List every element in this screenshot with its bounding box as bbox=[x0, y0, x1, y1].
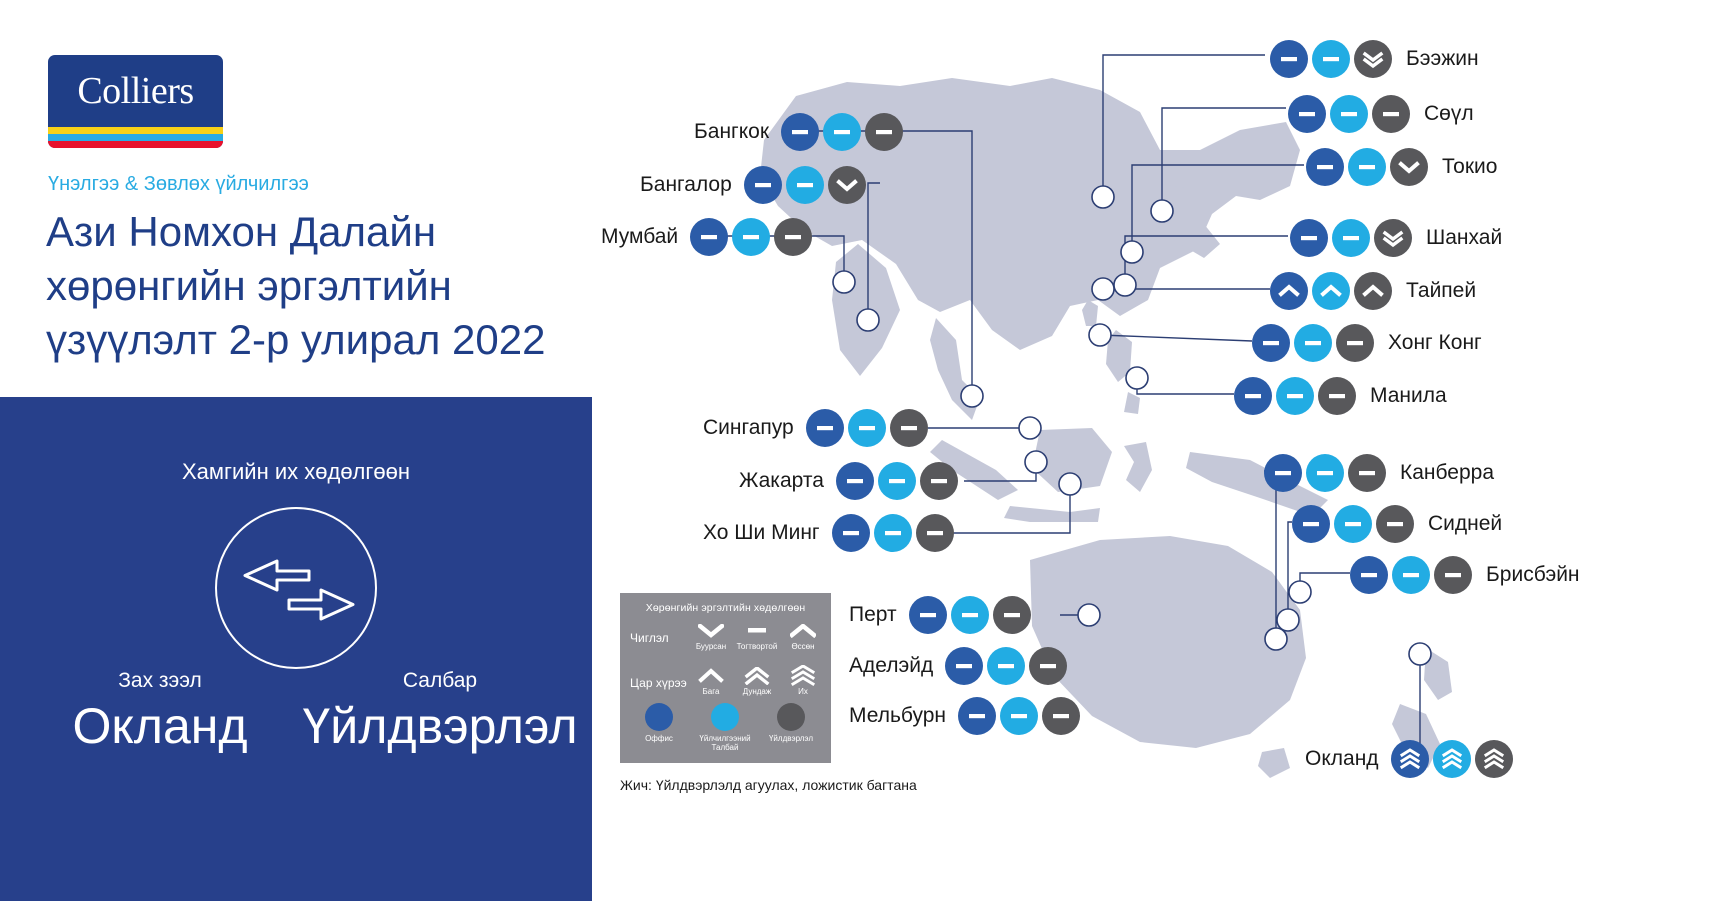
badge-office-dash-icon bbox=[781, 113, 819, 151]
badge-office-dash-icon bbox=[744, 166, 782, 204]
page-title: Ази Номхон Далайн хөрөнгийн эргэлтийн үз… bbox=[46, 205, 626, 366]
badge-retail-dash-icon bbox=[1348, 148, 1386, 186]
badge-industrial-chev-down-2-icon bbox=[1374, 219, 1412, 257]
city-group: Хо Ши Минг bbox=[703, 514, 954, 552]
footnote: Жич: Үйлдвэрлэлд агуулах, ложистик багта… bbox=[620, 777, 917, 793]
badge-industrial-dash-icon bbox=[1336, 324, 1374, 362]
badge-office-dash-icon bbox=[1292, 505, 1330, 543]
city-label: Тайпей bbox=[1406, 279, 1476, 303]
badge-retail-dash-icon bbox=[874, 514, 912, 552]
legend-direction-row: Чиглэл Буурсан Тогтвортой Өссөн bbox=[630, 620, 826, 651]
city-badges bbox=[1252, 324, 1374, 362]
badge-office-dash-icon bbox=[1288, 95, 1326, 133]
legend-caption: Буурсан bbox=[688, 642, 734, 651]
badge-retail-chev-up-1-icon bbox=[1312, 272, 1350, 310]
legend-caption: Тогтвортой bbox=[734, 642, 780, 651]
city-badges bbox=[1350, 556, 1472, 594]
city-badges bbox=[1264, 454, 1386, 492]
city-badges bbox=[836, 462, 958, 500]
city-label: Перт bbox=[849, 603, 897, 627]
badge-industrial-dash-icon bbox=[1434, 556, 1472, 594]
badge-retail-chev-up-3-icon bbox=[1433, 740, 1471, 778]
badge-industrial-chev-down-1-icon bbox=[1390, 148, 1428, 186]
highlight-sector-label: Салбар bbox=[300, 669, 580, 693]
dash-icon bbox=[734, 620, 780, 642]
badge-industrial-dash-icon bbox=[1348, 454, 1386, 492]
city-group: Шанхай bbox=[1290, 219, 1502, 257]
highlight-panel: Хамгийн их хөдөлгөөн Зах зээл Окланд Сал… bbox=[0, 397, 592, 901]
city-label: Бангалор bbox=[640, 173, 732, 197]
badge-office-dash-icon bbox=[1234, 377, 1272, 415]
logo-wordmark: Colliers bbox=[48, 55, 223, 127]
city-badges bbox=[1292, 505, 1414, 543]
city-label: Хо Ши Минг bbox=[703, 521, 820, 545]
chevron-single-icon bbox=[688, 665, 734, 687]
city-badges bbox=[1288, 95, 1410, 133]
badge-office-dash-icon bbox=[836, 462, 874, 500]
badge-retail-dash-icon bbox=[1000, 697, 1038, 735]
city-group: Бангалор bbox=[640, 166, 866, 204]
badge-office-dash-icon bbox=[832, 514, 870, 552]
city-label: Мельбурн bbox=[849, 704, 946, 728]
city-group: Бангкок bbox=[694, 113, 903, 151]
city-group: Мумбай bbox=[601, 218, 812, 256]
highlight-market-label: Зах зээл bbox=[40, 669, 280, 693]
legend-caption: Дундаж bbox=[734, 687, 780, 696]
badge-office-dash-icon bbox=[1306, 148, 1344, 186]
city-group: Манила bbox=[1234, 377, 1447, 415]
badge-office-chev-up-1-icon bbox=[1270, 272, 1308, 310]
city-badges bbox=[945, 647, 1067, 685]
city-group: Хонг Конг bbox=[1252, 324, 1482, 362]
badge-industrial-dash-icon bbox=[1042, 697, 1080, 735]
badge-industrial-dash-icon bbox=[1376, 505, 1414, 543]
badge-office-dash-icon bbox=[690, 218, 728, 256]
badge-industrial-chev-up-1-icon bbox=[1354, 272, 1392, 310]
city-label: Сидней bbox=[1428, 512, 1502, 536]
highlight-panel-title: Хамгийн их хөдөлгөөн bbox=[0, 459, 592, 485]
logo-stripe-cyan bbox=[48, 134, 223, 141]
city-badges bbox=[1270, 40, 1392, 78]
city-group: Жакарта bbox=[739, 462, 958, 500]
legend-item-stable: Тогтвортой bbox=[734, 620, 780, 651]
city-group: Токио bbox=[1306, 148, 1497, 186]
badge-office-dash-icon bbox=[958, 697, 996, 735]
legend-item-large: Их bbox=[780, 665, 826, 696]
city-label: Бээжин bbox=[1406, 47, 1479, 71]
badge-industrial-chev-down-2-icon bbox=[1354, 40, 1392, 78]
city-label: Жакарта bbox=[739, 469, 824, 493]
badge-industrial-chev-up-3-icon bbox=[1475, 740, 1513, 778]
city-label: Окланд bbox=[1305, 747, 1379, 771]
city-group: Аделэйд bbox=[849, 647, 1067, 685]
city-label: Мумбай bbox=[601, 225, 678, 249]
legend-caption: Үйлдвэрлэл bbox=[758, 734, 824, 743]
badge-office-dash-icon bbox=[909, 596, 947, 634]
left-column: Colliers Үнэлгээ & Зөвлөх үйлчилгээ Ази … bbox=[0, 0, 648, 901]
legend-caption: Үйлчилгээний Талбай bbox=[692, 734, 758, 752]
city-label: Аделэйд bbox=[849, 654, 933, 678]
badge-office-chev-up-3-icon bbox=[1391, 740, 1429, 778]
badge-industrial-dash-icon bbox=[1318, 377, 1356, 415]
badge-industrial-dash-icon bbox=[1372, 95, 1410, 133]
city-group: Канберра bbox=[1264, 454, 1494, 492]
city-group: Тайпей bbox=[1270, 272, 1476, 310]
badge-retail-dash-icon bbox=[786, 166, 824, 204]
badge-retail-dash-icon bbox=[1276, 377, 1314, 415]
badge-office-dash-icon bbox=[1350, 556, 1388, 594]
city-badges bbox=[1290, 219, 1412, 257]
badge-industrial-dash-icon bbox=[890, 409, 928, 447]
city-group: Сидней bbox=[1292, 505, 1502, 543]
city-label: Хонг Конг bbox=[1388, 331, 1482, 355]
badge-industrial-dash-icon bbox=[1029, 647, 1067, 685]
office-color-swatch bbox=[645, 703, 673, 731]
badge-retail-dash-icon bbox=[1330, 95, 1368, 133]
badge-retail-dash-icon bbox=[732, 218, 770, 256]
legend-magnitude-row: Цар хүрээ Бага Дундаж bbox=[630, 665, 826, 696]
badge-office-dash-icon bbox=[806, 409, 844, 447]
badge-industrial-chev-down-1-icon bbox=[828, 166, 866, 204]
legend-direction-label: Чиглэл bbox=[630, 620, 688, 645]
badge-office-dash-icon bbox=[1264, 454, 1302, 492]
legend-caption: Оффис bbox=[626, 734, 692, 743]
legend-item-medium: Дундаж bbox=[734, 665, 780, 696]
city-badges bbox=[832, 514, 954, 552]
logo-stripe-red bbox=[48, 141, 223, 148]
legend-item-down: Буурсан bbox=[688, 620, 734, 651]
city-group: Перт bbox=[849, 596, 1031, 634]
city-group: Окланд bbox=[1305, 740, 1513, 778]
chevron-triple-icon bbox=[780, 665, 826, 687]
city-group: Мельбурн bbox=[849, 697, 1080, 735]
city-label: Токио bbox=[1442, 155, 1497, 179]
city-badges bbox=[690, 218, 812, 256]
highlight-sector-value: Үйлдвэрлэл bbox=[280, 697, 600, 755]
badge-retail-dash-icon bbox=[1332, 219, 1370, 257]
legend-caption: Их bbox=[780, 687, 826, 696]
legend-caption: Бага bbox=[688, 687, 734, 696]
city-group: Сөүл bbox=[1288, 95, 1474, 133]
badge-office-dash-icon bbox=[945, 647, 983, 685]
badge-retail-dash-icon bbox=[823, 113, 861, 151]
legend-sector-retail: Үйлчилгээний Талбай bbox=[692, 703, 758, 752]
map-area: БээжинСөүлТокиоШанхайТайпейХонг КонгМани… bbox=[600, 0, 1726, 901]
retail-color-swatch bbox=[711, 703, 739, 731]
legend-sector-office: Оффис bbox=[626, 703, 692, 752]
city-badges bbox=[744, 166, 866, 204]
badge-office-dash-icon bbox=[1270, 40, 1308, 78]
badge-retail-dash-icon bbox=[1392, 556, 1430, 594]
colliers-logo: Colliers bbox=[48, 55, 223, 148]
city-label: Сөүл bbox=[1424, 102, 1474, 126]
legend-title: Хөрөнгийн эргэлтийн хөдөлгөөн bbox=[620, 593, 831, 614]
logo-stripe-yellow bbox=[48, 127, 223, 134]
city-group: Бээжин bbox=[1270, 40, 1479, 78]
city-label: Канберра bbox=[1400, 461, 1494, 485]
badge-industrial-dash-icon bbox=[920, 462, 958, 500]
badge-industrial-dash-icon bbox=[774, 218, 812, 256]
city-label: Бангкок bbox=[694, 120, 769, 144]
legend-sector-row: Оффис Үйлчилгээний Талбай Үйлдвэрлэл bbox=[626, 703, 824, 752]
highlight-market-value: Окланд bbox=[40, 697, 280, 755]
city-badges bbox=[958, 697, 1080, 735]
city-group: Сингапур bbox=[703, 409, 928, 447]
badge-office-dash-icon bbox=[1290, 219, 1328, 257]
city-badges bbox=[1270, 272, 1392, 310]
city-label: Шанхай bbox=[1426, 226, 1502, 250]
city-label: Брисбэйн bbox=[1486, 563, 1580, 587]
badge-retail-dash-icon bbox=[1312, 40, 1350, 78]
city-badges bbox=[1391, 740, 1513, 778]
legend-magnitude-label: Цар хүрээ bbox=[630, 665, 688, 690]
chevron-double-icon bbox=[734, 665, 780, 687]
city-badges bbox=[1234, 377, 1356, 415]
badge-retail-dash-icon bbox=[878, 462, 916, 500]
chevron-down-icon bbox=[688, 620, 734, 642]
legend-box: Хөрөнгийн эргэлтийн хөдөлгөөн Чиглэл Буу… bbox=[620, 593, 831, 763]
badge-retail-dash-icon bbox=[1294, 324, 1332, 362]
legend-item-small: Бага bbox=[688, 665, 734, 696]
city-label: Сингапур bbox=[703, 416, 794, 440]
city-badges bbox=[909, 596, 1031, 634]
badge-industrial-dash-icon bbox=[865, 113, 903, 151]
city-label: Манила bbox=[1370, 384, 1447, 408]
legend-sector-industrial: Үйлдвэрлэл bbox=[758, 703, 824, 752]
badge-office-dash-icon bbox=[1252, 324, 1290, 362]
legend-item-up: Өссөн bbox=[780, 620, 826, 651]
badge-retail-dash-icon bbox=[848, 409, 886, 447]
chevron-up-icon bbox=[780, 620, 826, 642]
badge-industrial-dash-icon bbox=[916, 514, 954, 552]
badge-retail-dash-icon bbox=[1334, 505, 1372, 543]
city-badges bbox=[781, 113, 903, 151]
badge-industrial-dash-icon bbox=[993, 596, 1031, 634]
badge-retail-dash-icon bbox=[951, 596, 989, 634]
badge-retail-dash-icon bbox=[1306, 454, 1344, 492]
city-badges bbox=[1306, 148, 1428, 186]
badge-retail-dash-icon bbox=[987, 647, 1025, 685]
city-group: Брисбэйн bbox=[1350, 556, 1580, 594]
two-way-arrows-icon bbox=[215, 507, 377, 669]
industrial-color-swatch bbox=[777, 703, 805, 731]
city-badges bbox=[806, 409, 928, 447]
legend-caption: Өссөн bbox=[780, 642, 826, 651]
eyebrow-text: Үнэлгээ & Зөвлөх үйлчилгээ bbox=[48, 173, 309, 196]
